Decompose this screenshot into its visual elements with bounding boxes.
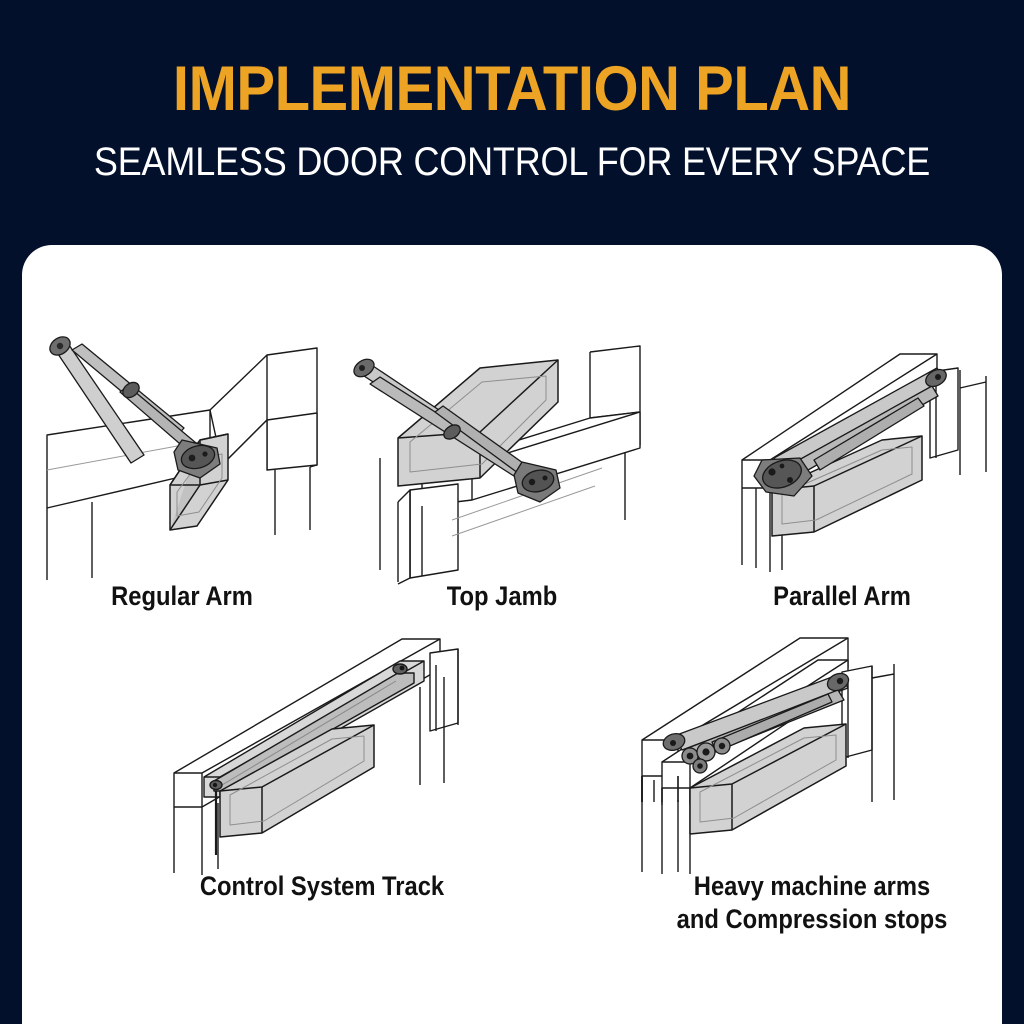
content-card: Regular Arm [22,245,1002,1024]
caption-heavy-machine-arms: Heavy machine arms and Compression stops [610,870,1002,936]
figure-top-jamb [340,340,670,585]
door-closer-heavy-arms-icon [632,630,932,875]
caption-top-jamb: Top Jamb [361,580,643,613]
door-closer-top-jamb-icon [340,340,670,585]
figure-parallel-arm [722,340,1002,585]
poster-page: IMPLEMENTATION PLAN SEAMLESS DOOR CONTRO… [0,0,1024,1024]
caption-regular-arm: Regular Arm [41,580,323,613]
page-title: IMPLEMENTATION PLAN [41,58,983,121]
figure-control-system-track [162,625,492,875]
door-closer-track-icon [162,625,492,875]
page-subtitle: SEAMLESS DOOR CONTROL FOR EVERY SPACE [51,142,973,182]
caption-parallel-arm: Parallel Arm [701,580,983,613]
poster-header: IMPLEMENTATION PLAN SEAMLESS DOOR CONTRO… [0,0,1024,240]
caption-control-system-track: Control System Track [58,870,586,903]
figure-regular-arm [32,330,332,580]
figure-heavy-machine-arms [632,630,932,875]
door-closer-parallel-arm-icon [722,340,1002,585]
door-closer-regular-arm-icon [32,330,332,580]
